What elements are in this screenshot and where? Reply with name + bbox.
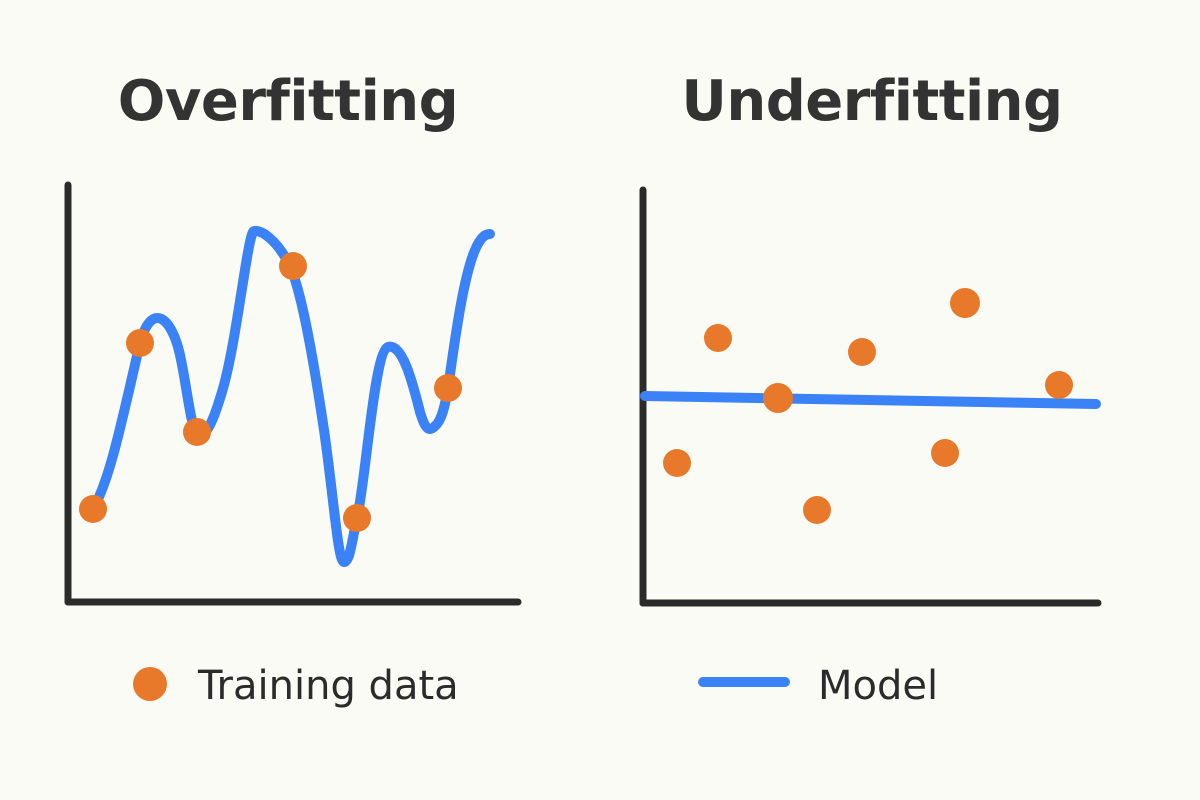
data-point	[950, 288, 980, 318]
data-point	[803, 496, 831, 524]
data-point	[126, 329, 154, 357]
legend-label-training-data: Training data	[197, 663, 459, 709]
legend-dot-icon	[133, 667, 167, 701]
panel-title-underfitting: Underfitting	[681, 69, 1062, 134]
data-point	[663, 449, 691, 477]
data-point	[343, 504, 371, 532]
panel-title-overfitting: Overfitting	[118, 69, 458, 134]
data-point	[183, 418, 211, 446]
data-point	[704, 324, 732, 352]
overfitting-underfitting-figure: Overfitting Underfitting	[0, 0, 1200, 800]
data-point	[279, 252, 307, 280]
legend-label-model: Model	[818, 663, 938, 709]
data-point	[79, 495, 107, 523]
data-point	[931, 439, 959, 467]
data-point	[1045, 371, 1073, 399]
data-point	[848, 338, 876, 366]
data-point	[434, 374, 462, 402]
data-point	[763, 383, 793, 413]
